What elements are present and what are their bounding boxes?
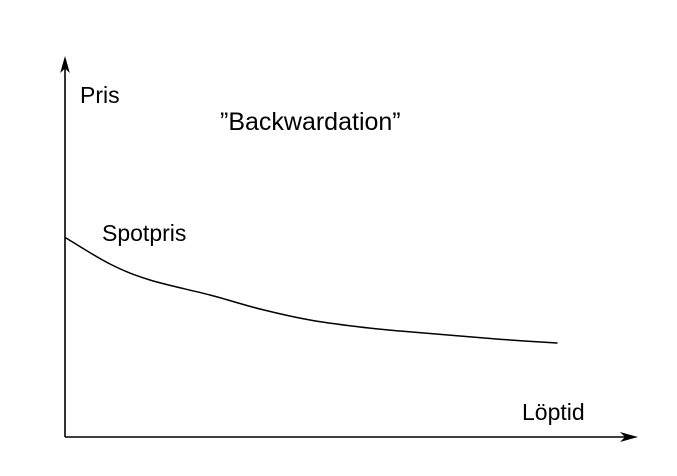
backwardation-figure: Pris ”Backwardation” Spotpris Löptid [0,0,677,476]
spotpris-curve [66,238,557,343]
backwardation-annotation: ”Backwardation” [220,110,401,135]
spotpris-curve-label: Spotpris [102,222,186,245]
y-axis-label: Pris [80,84,120,107]
x-axis-label: Löptid [522,401,585,424]
